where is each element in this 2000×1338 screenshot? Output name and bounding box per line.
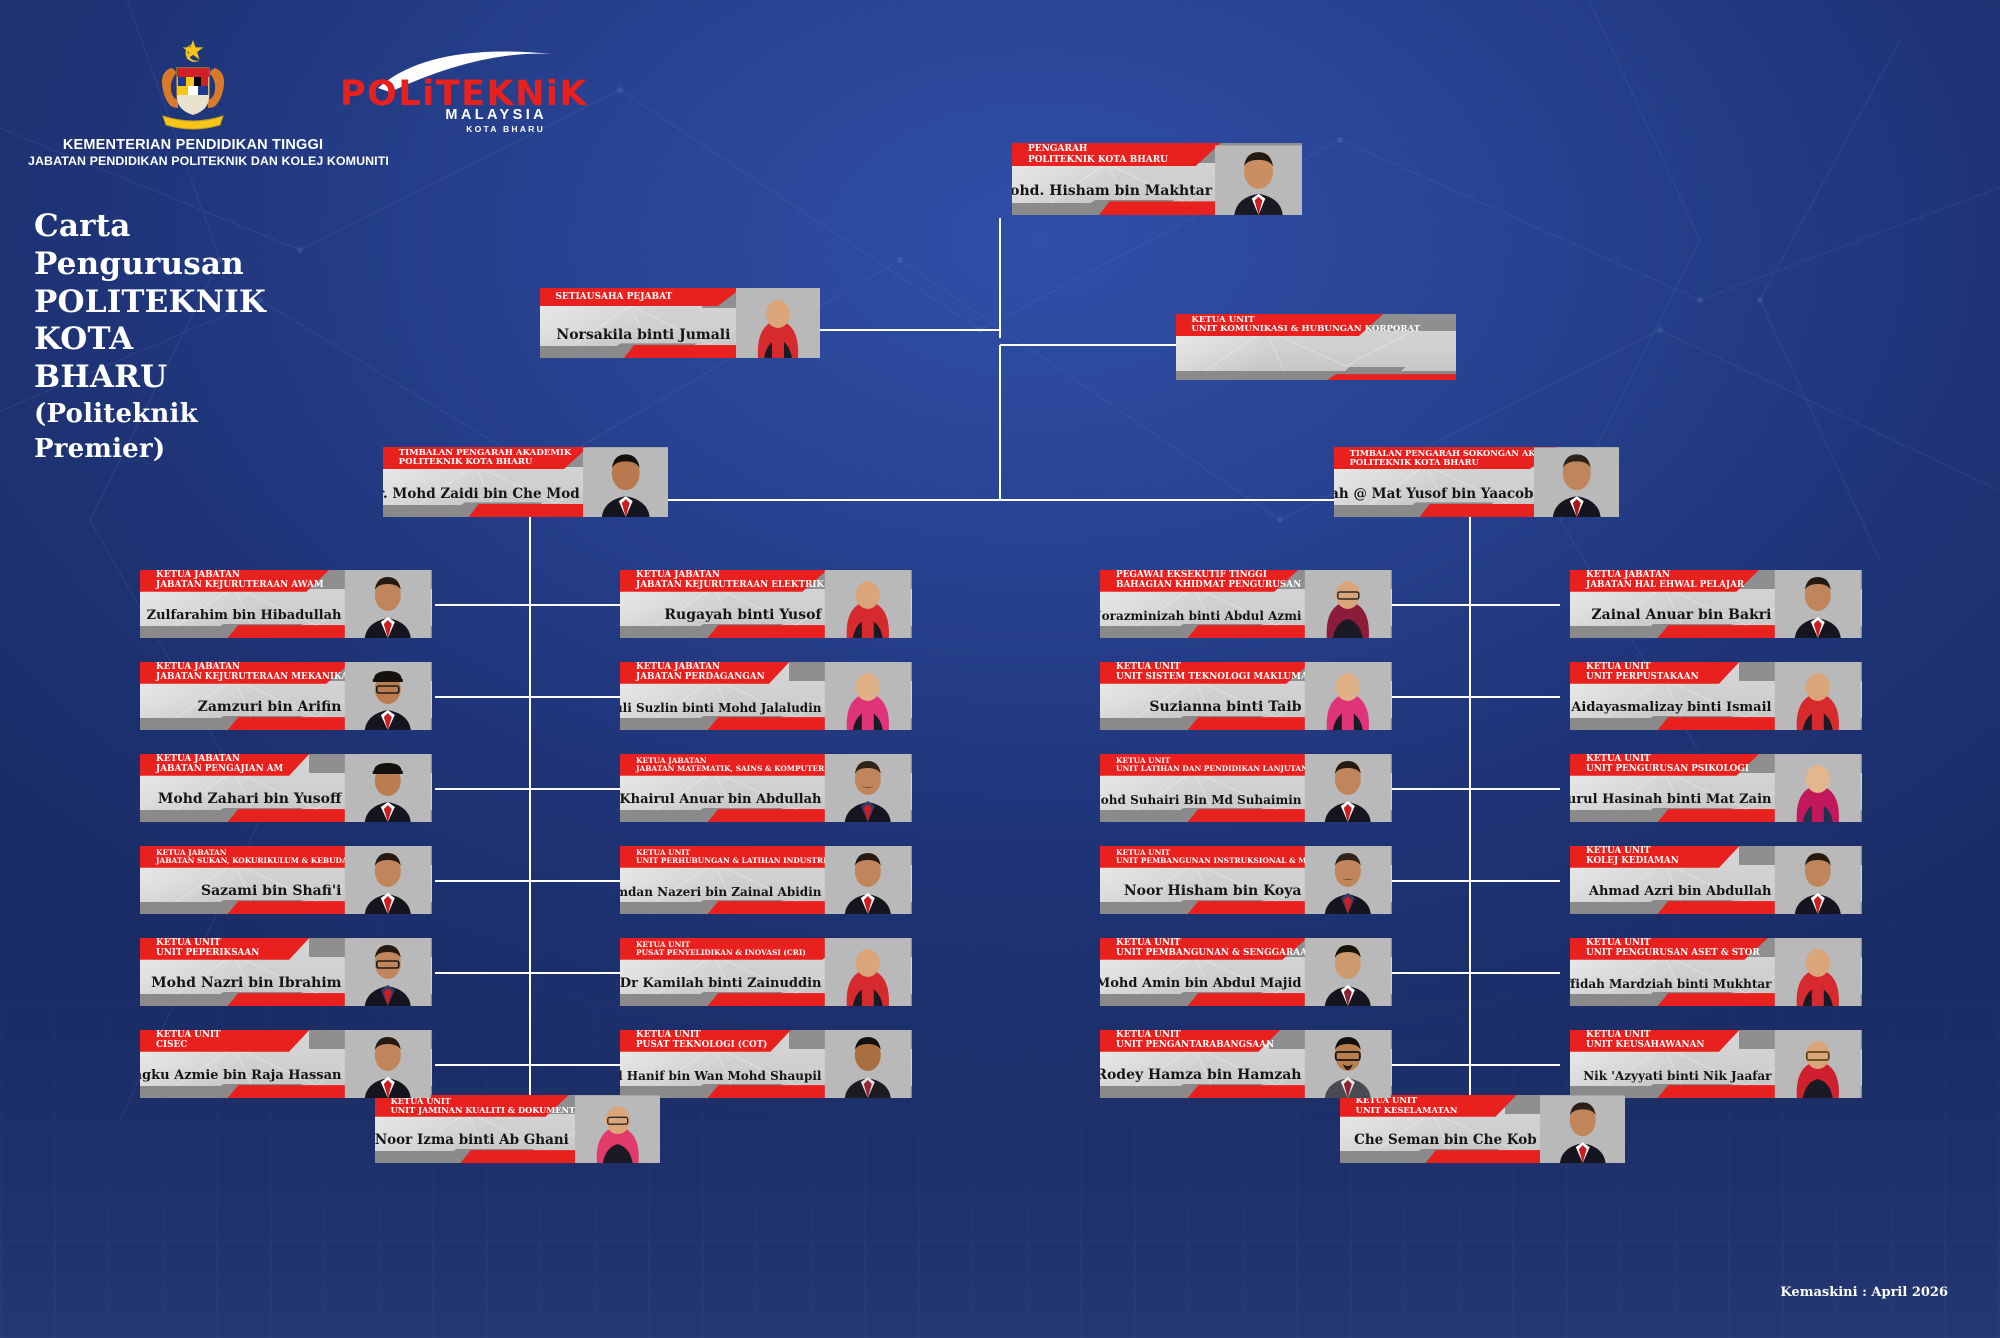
card-role-text: KETUA UNITUNIT LATIHAN DAN PENDIDIKAN LA… [1100, 754, 1334, 776]
card-role-text: TIMBALAN PENGARAH SOKONGAN AKADEMIK POLI… [1334, 447, 1556, 469]
politeknik-logo-subtitle: MALAYSIA [445, 107, 547, 123]
card-person-name: Norazminizah binti Abdul Azmi [1100, 609, 1301, 623]
org-chart-poster: KEMENTERIAN PENDIDIKAN TINGGI JABATAN PE… [0, 0, 2000, 1338]
card-role-text: KETUA UNIT UNIT KOMUNIKASI & HUBUNGAN KO… [1176, 314, 1383, 336]
card-column-4-row-6[interactable]: KETUA UNITUNIT KEUSAHAWANANNik 'Azyyati … [1570, 1030, 1862, 1098]
card-photo [1215, 143, 1302, 215]
card-role-text: KETUA UNITPUSAT TEKNOLOGI (COT) [620, 1030, 791, 1052]
card-role-line2: POLITEKNIK KOTA BHARU [1028, 155, 1221, 165]
card-person-name: Noor Hisham bin Koya [1124, 883, 1302, 899]
card-column-1-row-2[interactable]: KETUA JABATANJABATAN KEJURUTERAAN MEKANI… [140, 662, 432, 730]
card-role-line2: JABATAN HAL EHWAL PELAJAR [1586, 581, 1759, 591]
card-photo [1774, 754, 1862, 822]
card-role-text: PENGARAH POLITEKNIK KOTA BHARU [1012, 143, 1221, 166]
card-role-text: KETUA JABATANJABATAN KEJURUTERAAN MEKANI… [140, 662, 352, 684]
card-role-text: KETUA UNIT UNIT JAMINAN KUALITI & DOKUME… [375, 1095, 569, 1117]
card-role-text: KETUA UNITUNIT PENGURUSAN ASET & STOR [1570, 938, 1768, 960]
card-role-line2: UNIT PENGURUSAN ASET & STOR [1586, 949, 1768, 959]
card-person-name: Nik 'Azyyati binti Nik Jaafar [1583, 1069, 1771, 1083]
card-role-text: KETUA JABATANJABATAN SUKAN, KOKURIKULUM … [140, 846, 374, 868]
card-photo [1774, 1030, 1862, 1098]
card-role-text: KETUA UNITKOLEJ KEDIAMAN [1570, 846, 1739, 868]
card-photo [1304, 754, 1392, 822]
card-person-name: Affidah Mardziah binti Mukhtar [1570, 977, 1771, 991]
card-grey-wedge [1344, 367, 1406, 372]
card-person-name: Sr Noor Izma binti Ab Ghani [375, 1132, 569, 1148]
card-photo [1540, 1095, 1626, 1163]
card-photo [1774, 570, 1862, 638]
card-role-line2: UNIT PERPUSTAKAAN [1586, 673, 1739, 683]
card-role-line1: SETIAUSAHA PEJABAT [555, 292, 741, 302]
card-person-name: Ts. Mohd. Hisham bin Makhtar [1012, 183, 1212, 199]
card-column-2-row-4[interactable]: KETUA UNITUNIT PERHUBUNGAN & LATIHAN IND… [620, 846, 912, 914]
card-role-line1: PENGARAH [1028, 144, 1221, 154]
card-photo [344, 846, 432, 914]
card-role-text: SETIAUSAHA PEJABAT [540, 288, 742, 306]
card-photo [344, 754, 432, 822]
card-role-line2: UNIT PENGANTARABANGSAAN [1116, 1041, 1280, 1051]
card-photo [1774, 846, 1862, 914]
card-director[interactable]: PENGARAH POLITEKNIK KOTA BHARU Ts. Mohd.… [1012, 143, 1302, 215]
card-role-text: KETUA UNITPUSAT PENYELIDIKAN & INOVASI (… [620, 938, 850, 960]
card-role-line2: UNIT LATIHAN DAN PENDIDIKAN LANJUTAN [1116, 765, 1334, 773]
card-setiausaha-pejabat[interactable]: SETIAUSAHA PEJABAT Norsakila binti Jumal… [540, 288, 820, 358]
card-column-3-row-6[interactable]: KETUA UNITUNIT PENGANTARABANGSAANRodey H… [1100, 1030, 1392, 1098]
card-person-name: Rodey Hamza bin Hamzah [1100, 1067, 1301, 1083]
card-role-line2: JABATAN KEJURUTERAAN MEKANIKAL [156, 673, 352, 683]
malaysia-coat-of-arms-icon [137, 38, 249, 134]
card-column-2-row-5[interactable]: KETUA UNITPUSAT PENYELIDIKAN & INOVASI (… [620, 938, 912, 1006]
card-photo [824, 1030, 912, 1098]
ministry-name-line2: JABATAN PENDIDIKAN POLITEKNIK DAN KOLEJ … [28, 154, 358, 168]
card-person-name: Mohd Zahari bin Yusoff [158, 791, 342, 807]
card-role-line2: UNIT SISTEM TEKNOLOGI MAKLUMAT [1116, 673, 1312, 683]
card-column-4-row-1[interactable]: KETUA JABATANJABATAN HAL EHWAL PELAJARZa… [1570, 570, 1862, 638]
card-role-text: KETUA UNITUNIT PEMBANGUNAN & SENGGARAAN [1100, 938, 1307, 960]
card-photo [1304, 846, 1392, 914]
card-role-text: PEGAWAI EKSEKUTIF TINGGIBAHAGIAN KHIDMAT… [1100, 570, 1298, 592]
card-role-line2: JABATAN MATEMATIK, SAINS & KOMPUTER [636, 765, 854, 773]
card-role-line2: PUSAT PENYELIDIKAN & INOVASI (CRI) [636, 949, 850, 957]
card-person-name: Zainal Anuar bin Bakri [1591, 607, 1771, 623]
card-role-line2: JABATAN KEJURUTERAAN AWAM [156, 581, 329, 591]
page-title: Carta Pengurusan POLITEKNIK KOTA BHARU (… [34, 208, 266, 467]
card-person-name: Norsakila binti Jumali [556, 327, 730, 343]
card-role-text: KETUA JABATANJABATAN KEJURUTERAAN ELEKTR… [620, 570, 827, 592]
card-column-4-row-3[interactable]: KETUA UNITUNIT PENGURUSAN PSIKOLOGINurul… [1570, 754, 1862, 822]
card-role-line2: CISEC [156, 1041, 309, 1051]
card-photo [824, 570, 912, 638]
card-unit-komunikasi-hubungan-korporat[interactable]: KETUA UNIT UNIT KOMUNIKASI & HUBUNGAN KO… [1176, 314, 1456, 380]
card-person-name: Ahmad Azri bin Abdullah [1589, 884, 1772, 899]
card-person-name: Ir. Mohd Zaidi bin Che Mod [383, 486, 580, 502]
card-role-line2: UNIT PENGURUSAN PSIKOLOGI [1586, 765, 1759, 775]
card-unit-keselamatan[interactable]: KETUA UNIT UNIT KESELAMATAN Che Seman bi… [1340, 1095, 1625, 1163]
card-role-text: KETUA UNITUNIT SISTEM TEKNOLOGI MAKLUMAT [1100, 662, 1312, 684]
card-column-1-row-4[interactable]: KETUA JABATANJABATAN SUKAN, KOKURIKULUM … [140, 846, 432, 914]
card-unit-jaminan-kualiti-dokumentasi[interactable]: KETUA UNIT UNIT JAMINAN KUALITI & DOKUME… [375, 1095, 660, 1163]
card-column-4-row-5[interactable]: KETUA UNITUNIT PENGURUSAN ASET & STORAff… [1570, 938, 1862, 1006]
card-person-name: Zulfarahim bin Hibadullah [147, 608, 342, 623]
card-person-name: Tengku Azmie bin Raja Hassan [140, 1068, 341, 1083]
card-photo [1304, 570, 1392, 638]
card-role-line2: UNIT JAMINAN KUALITI & DOKUMENTASI [391, 1106, 569, 1115]
card-role-line2: UNIT KESELAMATAN [1356, 1106, 1517, 1115]
card-column-4-row-2[interactable]: KETUA UNITUNIT PERPUSTAKAANAidayasmaliza… [1570, 662, 1862, 730]
card-column-3-row-3[interactable]: KETUA UNITUNIT LATIHAN DAN PENDIDIKAN LA… [1100, 754, 1392, 822]
card-photo [736, 288, 820, 358]
card-role-line2: JABATAN PERDAGANGAN [636, 673, 789, 683]
card-photo [583, 447, 669, 517]
card-person-name: Wan Mohd Hanif bin Wan Mohd Shaupil [620, 1069, 821, 1083]
card-column-3-row-5[interactable]: KETUA UNITUNIT PEMBANGUNAN & SENGGARAANM… [1100, 938, 1392, 1006]
card-person-name: Rugayah binti Yusof [664, 607, 821, 623]
card-role-text: KETUA UNITUNIT PERHUBUNGAN & LATIHAN IND… [620, 846, 854, 868]
card-role-text: KETUA UNITUNIT PEPERIKSAAN [140, 938, 309, 960]
card-column-2-row-1[interactable]: KETUA JABATANJABATAN KEJURUTERAAN ELEKTR… [620, 570, 912, 638]
card-person-name: Khairul Anuar bin Abdullah [620, 792, 821, 807]
card-column-2-row-3[interactable]: KETUA JABATANJABATAN MATEMATIK, SAINS & … [620, 754, 912, 822]
card-role-text: KETUA JABATANJABATAN KEJURUTERAAN AWAM [140, 570, 329, 592]
card-column-2-row-6[interactable]: KETUA UNITPUSAT TEKNOLOGI (COT)Wan Mohd … [620, 1030, 912, 1098]
ministry-identity: KEMENTERIAN PENDIDIKAN TINGGI JABATAN PE… [28, 38, 358, 168]
card-role-text: KETUA UNIT UNIT KESELAMATAN [1340, 1095, 1517, 1117]
card-role-text: KETUA JABATANJABATAN PERDAGANGAN [620, 662, 789, 684]
card-photo [1774, 938, 1862, 1006]
card-photo [344, 1030, 432, 1098]
card-role-line2: POLITEKNIK KOTA BHARU [1350, 458, 1557, 467]
card-column-3-row-1[interactable]: PEGAWAI EKSEKUTIF TINGGIBAHAGIAN KHIDMAT… [1100, 570, 1392, 638]
card-person-name: Che Seman bin Che Kob [1354, 1132, 1537, 1148]
card-role-line2: UNIT PERHUBUNGAN & LATIHAN INDUSTRI [636, 857, 854, 865]
card-photo [824, 938, 912, 1006]
card-column-2-row-2[interactable]: KETUA JABATANJABATAN PERDAGANGANJuli Suz… [620, 662, 912, 730]
card-role-text: KETUA UNITUNIT PENGANTARABANGSAAN [1100, 1030, 1280, 1052]
card-person-name: Aidayasmalizay binti Ismail [1571, 700, 1771, 715]
card-role-line2: BAHAGIAN KHIDMAT PENGURUSAN [1116, 581, 1298, 591]
card-person-name: Sazami bin Shafi'i [201, 883, 342, 899]
card-photo [1304, 938, 1392, 1006]
card-role-line2: UNIT KOMUNIKASI & HUBUNGAN KORPORAT [1191, 325, 1383, 335]
card-person-name: Dr Mohd Suhairi Bin Md Suhaimin [1100, 793, 1301, 807]
card-column-4-row-4[interactable]: KETUA UNITKOLEJ KEDIAMANAhmad Azri bin A… [1570, 846, 1862, 914]
card-role-line2: JABATAN PENGAJIAN AM [156, 765, 309, 775]
card-person-name: Hamdan Nazeri bin Zainal Abidin [620, 885, 821, 899]
card-role-text: KETUA JABATANJABATAN PENGAJIAN AM [140, 754, 309, 776]
card-photo [824, 662, 912, 730]
card-role-text: KETUA UNITCISEC [140, 1030, 309, 1052]
card-person-name: Mohd Amin bin Abdul Majid [1100, 976, 1301, 991]
card-role-line2: JABATAN SUKAN, KOKURIKULUM & KEBUDAYAAN [156, 857, 374, 865]
card-role-text: KETUA UNITUNIT PERPUSTAKAAN [1570, 662, 1739, 684]
card-photo [575, 1095, 661, 1163]
card-person-name: Mohd Nazri bin Ibrahim [151, 975, 341, 991]
card-person-name: Zamzuri bin Arifin [198, 699, 342, 715]
update-note: Kemaskini : April 2026 [1780, 1285, 1948, 1300]
card-person-name: Suzianna binti Taib [1149, 699, 1301, 715]
card-person-name: Dr Kamilah binti Zainuddin [620, 976, 821, 991]
page-title-line1: Carta Pengurusan [34, 208, 266, 284]
card-role-line2: UNIT PEMBANGUNAN INSTRUKSIONAL & MULTIME… [1116, 857, 1334, 865]
card-role-text: TIMBALAN PENGARAH AKADEMIK POLITEKNIK KO… [383, 447, 588, 469]
card-photo [824, 754, 912, 822]
card-photo [1304, 1030, 1392, 1098]
card-role-line2: POLITEKNIK KOTA BHARU [399, 458, 589, 468]
card-person-name: Nurul Hasinah binti Mat Zain [1570, 792, 1771, 807]
card-role-line2: UNIT PEMBANGUNAN & SENGGARAAN [1116, 949, 1307, 959]
card-column-1-row-3[interactable]: KETUA JABATANJABATAN PENGAJIAN AMMohd Za… [140, 754, 432, 822]
politeknik-logo-campus: KOTA BHARU [466, 124, 545, 134]
card-photo [1534, 447, 1620, 517]
card-timbalan-pengarah-akademik[interactable]: TIMBALAN PENGARAH AKADEMIK POLITEKNIK KO… [383, 447, 668, 517]
card-person-name: Abdullah @ Mat Yusof bin Yaacob [1334, 486, 1534, 502]
card-role-text: KETUA UNITUNIT KEUSAHAWANAN [1570, 1030, 1739, 1052]
page-title-line3: (Politeknik Premier) [34, 397, 266, 467]
card-column-1-row-5[interactable]: KETUA UNITUNIT PEPERIKSAANMohd Nazri bin… [140, 938, 432, 1006]
politeknik-logo: POLiTEKNiK MALAYSIA KOTA BHARU [340, 52, 555, 124]
card-column-1-row-1[interactable]: KETUA JABATANJABATAN KEJURUTERAAN AWAMZu… [140, 570, 432, 638]
ministry-name-line1: KEMENTERIAN PENDIDIKAN TINGGI [28, 137, 358, 153]
card-role-line2: KOLEJ KEDIAMAN [1586, 857, 1739, 867]
card-column-1-row-6[interactable]: KETUA UNITCISECTengku Azmie bin Raja Has… [140, 1030, 432, 1098]
card-role-text: KETUA UNITUNIT PEMBANGUNAN INSTRUKSIONAL… [1100, 846, 1334, 868]
card-photo [344, 662, 432, 730]
card-photo [1774, 662, 1862, 730]
card-photo [344, 570, 432, 638]
card-photo [824, 846, 912, 914]
card-role-text: KETUA JABATANJABATAN MATEMATIK, SAINS & … [620, 754, 854, 776]
card-person-name: Juli Suzlin binti Mohd Jalaludin [620, 701, 821, 715]
card-photo [344, 938, 432, 1006]
card-column-3-row-4[interactable]: KETUA UNITUNIT PEMBANGUNAN INSTRUKSIONAL… [1100, 846, 1392, 914]
card-role-line2: JABATAN KEJURUTERAAN ELEKTRIK [636, 581, 827, 591]
card-photo [1304, 662, 1392, 730]
card-role-text: KETUA JABATANJABATAN HAL EHWAL PELAJAR [1570, 570, 1759, 592]
card-role-text: KETUA UNITUNIT PENGURUSAN PSIKOLOGI [1570, 754, 1759, 776]
card-column-3-row-2[interactable]: KETUA UNITUNIT SISTEM TEKNOLOGI MAKLUMAT… [1100, 662, 1392, 730]
page-title-line2: POLITEKNIK KOTA BHARU [34, 284, 266, 397]
card-role-line2: UNIT KEUSAHAWANAN [1586, 1041, 1739, 1051]
card-timbalan-pengarah-sokongan-akademik[interactable]: TIMBALAN PENGARAH SOKONGAN AKADEMIK POLI… [1334, 447, 1619, 517]
card-role-line2: UNIT PEPERIKSAAN [156, 949, 309, 959]
card-role-line2: PUSAT TEKNOLOGI (COT) [636, 1041, 791, 1051]
card-red-slash [1327, 374, 1456, 380]
